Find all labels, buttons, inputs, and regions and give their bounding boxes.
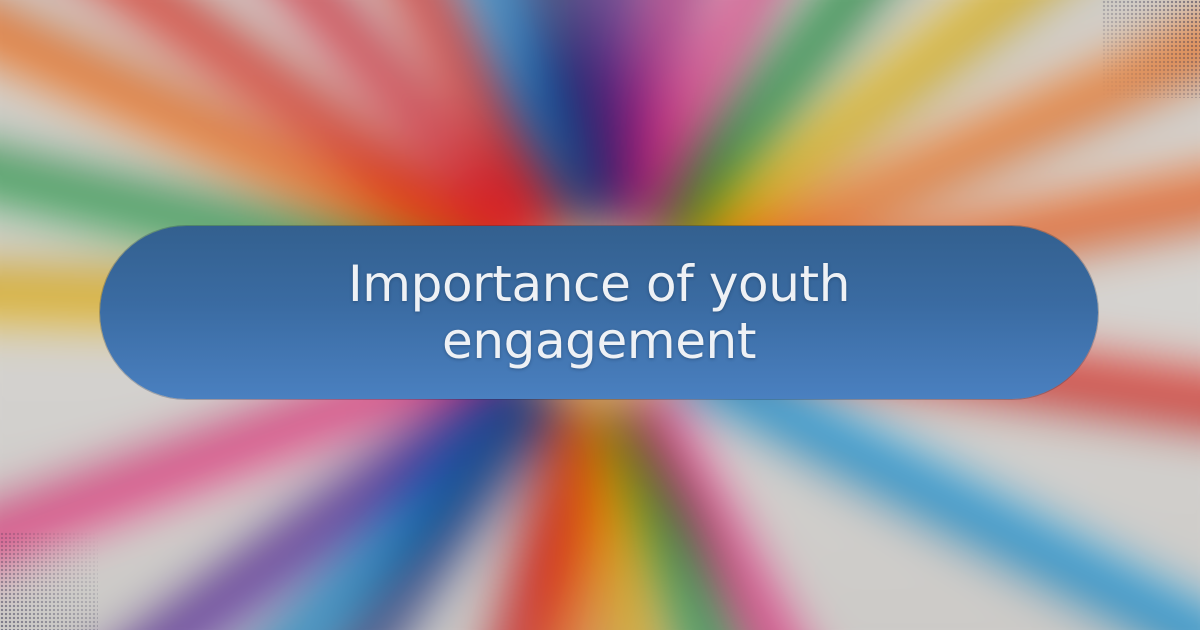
halftone-dots-top-right <box>1102 0 1200 98</box>
banner: Importance of youth engagement <box>0 0 1200 630</box>
halftone-dots-bottom-left <box>0 532 98 630</box>
page-title: Importance of youth engagement <box>319 256 879 370</box>
title-pill: Importance of youth engagement <box>100 226 1098 399</box>
